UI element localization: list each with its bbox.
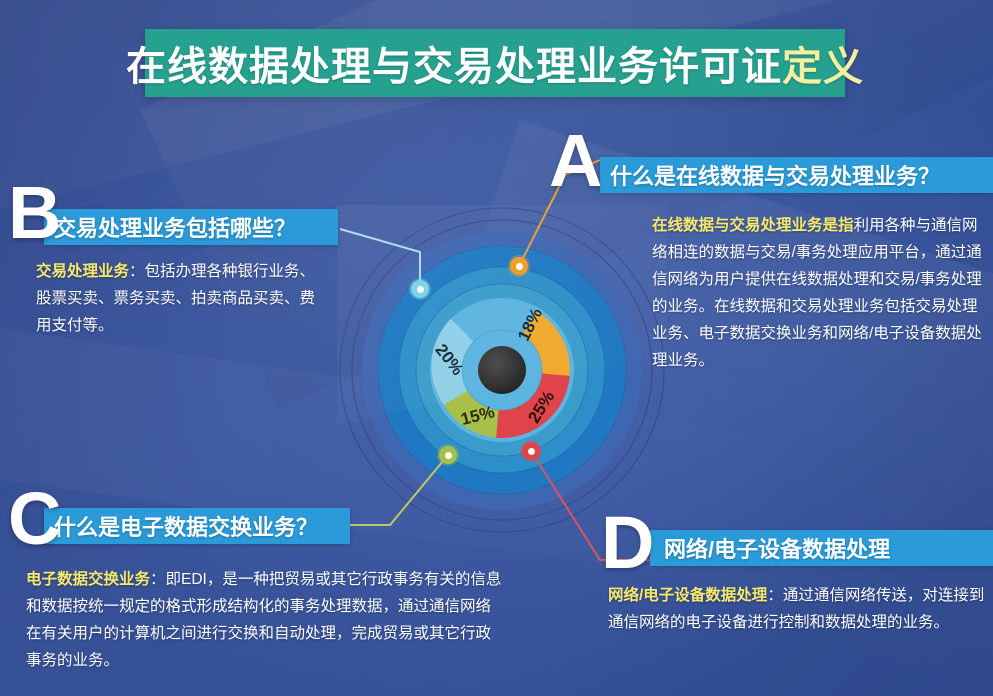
section-header-a[interactable]: 什么是在线数据与交易处理业务？: [600, 157, 993, 193]
section-body-c: 电子数据交换业务：即EDI，是一种把贸易或其它行政事务有关的信息和数据按统一规定…: [26, 566, 506, 674]
section-header-a-label: 什么是在线数据与交易处理业务？: [610, 159, 940, 191]
page-title-highlight: 定义: [782, 45, 864, 89]
section-letter-a: A: [549, 130, 602, 193]
page-title-main: 在线数据处理与交易处理业务许可证: [126, 45, 782, 89]
section-header-c-label: 什么是电子数据交换业务？: [54, 510, 318, 542]
section-body-d-lead: 网络/电子设备数据处理: [608, 587, 767, 604]
section-body-c-lead: 电子数据交换业务: [26, 571, 150, 588]
section-body-b-lead: 交易处理业务: [36, 263, 129, 280]
section-body-a-text: 利用各种与通信网络相连的数据与交易/事务处理应用平台，通过通信网络为用户提供在线…: [652, 217, 982, 369]
section-letter-b: B: [8, 182, 61, 245]
infographic-canvas: 18% 25% 15% 20% 在线数据处理与交易处理业务许可证定义 A 什么是…: [0, 0, 993, 696]
connector-dot-a: [510, 257, 528, 275]
section-body-a-lead: 在线数据与交易处理业务是指: [652, 217, 854, 234]
connector-dot-d: [522, 442, 540, 460]
connector-dot-c: [439, 446, 457, 464]
page-title: 在线数据处理与交易处理业务许可证定义: [126, 34, 864, 92]
section-header-d[interactable]: 网络/电子设备数据处理: [650, 530, 993, 566]
section-body-d: 网络/电子设备数据处理：通过通信网络传送，对连接到通信网络的电子设备进行控制和数…: [608, 582, 990, 636]
section-body-a: 在线数据与交易处理业务是指利用各种与通信网络相连的数据与交易/事务处理应用平台，…: [652, 212, 990, 374]
section-body-b: 交易处理业务：包括办理各种银行业务、股票买卖、票务买卖、拍卖商品买卖、费用支付等…: [36, 258, 318, 339]
section-letter-d: D: [601, 512, 654, 575]
connector-dot-b: [411, 280, 429, 298]
section-letter-c: C: [8, 488, 61, 551]
section-header-b[interactable]: 交易处理业务包括哪些？: [44, 209, 338, 245]
section-header-b-label: 交易处理业务包括哪些？: [54, 211, 296, 243]
page-title-bar: 在线数据处理与交易处理业务许可证定义: [145, 29, 845, 97]
section-header-c[interactable]: 什么是电子数据交换业务？: [44, 508, 350, 544]
section-header-d-label: 网络/电子设备数据处理: [664, 532, 890, 564]
concentric-donut-chart: 18% 25% 15% 20%: [337, 205, 667, 535]
